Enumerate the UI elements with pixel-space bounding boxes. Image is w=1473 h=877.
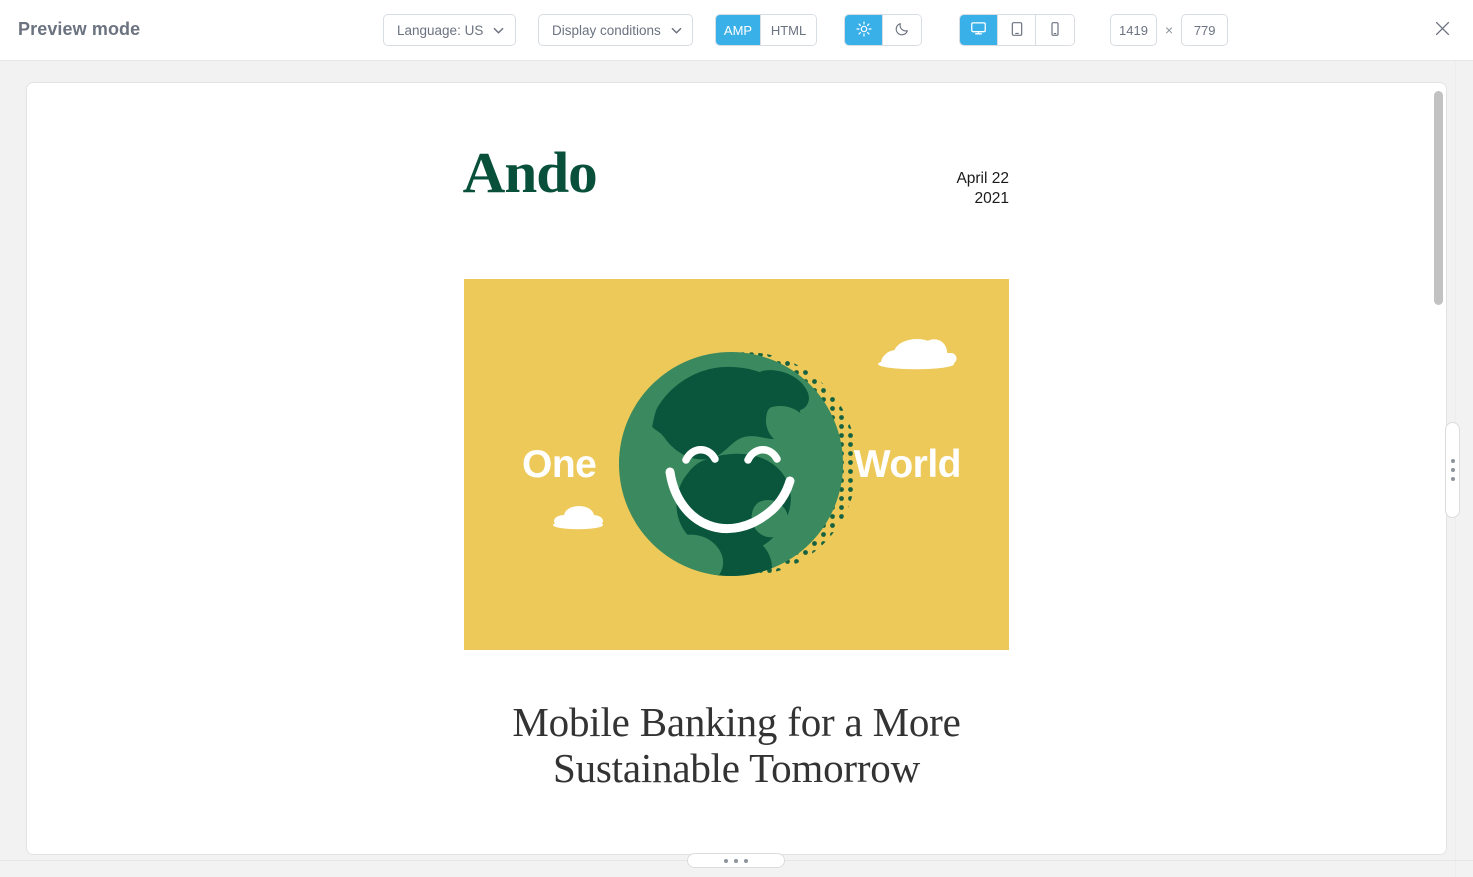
email-header: Ando April 22 2021 <box>464 145 1009 208</box>
theme-toggle-group <box>844 14 922 46</box>
desktop-icon <box>970 20 987 40</box>
viewport-height-input[interactable]: 779 <box>1181 14 1228 46</box>
device-toggle-group <box>959 14 1075 46</box>
format-toggle-amp[interactable]: AMP <box>716 15 761 45</box>
viewport-width-input[interactable]: 1419 <box>1110 14 1157 46</box>
language-dropdown-label: Language: US <box>397 23 483 38</box>
preview-scrollbar-thumb[interactable] <box>1434 91 1443 305</box>
toolbar-controls: Language: US Display conditions AMP HTM <box>383 14 1228 46</box>
page-title: Preview mode <box>18 19 140 40</box>
viewport-size-group: 1419 × 779 <box>1110 14 1228 46</box>
hero-illustration: One World <box>464 279 1009 650</box>
moon-icon <box>894 21 910 40</box>
smiling-earth-icon <box>612 341 862 588</box>
close-button[interactable] <box>1429 18 1455 44</box>
brand-logo: Ando <box>463 145 597 200</box>
grip-dot <box>1451 477 1455 481</box>
grip-dot <box>734 859 738 863</box>
mobile-icon <box>1047 21 1063 40</box>
viewport-size-separator: × <box>1157 22 1181 38</box>
theme-toggle-dark[interactable] <box>883 15 921 45</box>
sun-icon <box>856 21 872 40</box>
email-content: Ando April 22 2021 One World <box>27 83 1446 792</box>
device-toggle-tablet[interactable] <box>998 15 1036 45</box>
grip-dot <box>744 859 748 863</box>
format-toggle-group: AMP HTML <box>715 14 817 46</box>
cloud-icon-bottom-left <box>552 500 604 535</box>
cloud-icon-top-right <box>875 328 957 375</box>
theme-toggle-light[interactable] <box>845 15 883 45</box>
email-date: April 22 2021 <box>956 145 1009 208</box>
hero-word-right: World <box>854 443 961 487</box>
grip-dot <box>1451 459 1455 463</box>
language-dropdown[interactable]: Language: US <box>383 14 516 46</box>
format-toggle-html-label: HTML <box>771 23 806 38</box>
format-toggle-html[interactable]: HTML <box>761 15 816 45</box>
email-scroll-area[interactable]: Ando April 22 2021 One World <box>27 83 1446 854</box>
format-toggle-amp-label: AMP <box>724 23 752 38</box>
display-conditions-dropdown[interactable]: Display conditions <box>538 14 693 46</box>
grip-dot <box>724 859 728 863</box>
chevron-down-icon <box>493 25 504 36</box>
chevron-down-icon <box>671 25 682 36</box>
top-toolbar: Preview mode Language: US Display condit… <box>0 0 1473 61</box>
preview-scrollbar[interactable] <box>1434 89 1443 849</box>
display-conditions-label: Display conditions <box>552 23 661 38</box>
resize-handle-bottom[interactable] <box>687 853 785 868</box>
tablet-icon <box>1009 21 1025 40</box>
grip-dot <box>1451 468 1455 472</box>
close-icon <box>1433 19 1452 43</box>
resize-handle-right[interactable] <box>1445 422 1460 518</box>
email-headline: Mobile Banking for a More Sustainable To… <box>457 700 1017 792</box>
device-toggle-mobile[interactable] <box>1036 15 1074 45</box>
preview-viewport: Ando April 22 2021 One World <box>26 82 1447 855</box>
device-toggle-desktop[interactable] <box>960 15 998 45</box>
hero-word-left: One <box>522 443 596 487</box>
